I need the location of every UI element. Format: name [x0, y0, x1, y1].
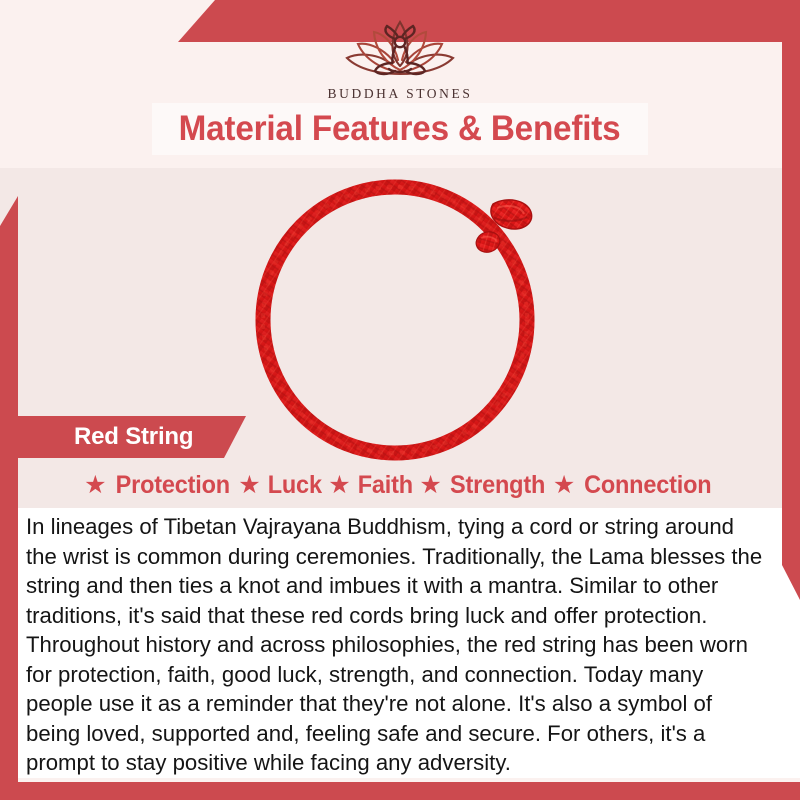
star-icon: ★	[238, 473, 260, 498]
lotus-meditation-icon	[325, 14, 475, 84]
brand-wordmark: BUDDHA STONES	[0, 86, 800, 102]
feature-item-strength: ★ Strength	[419, 471, 548, 500]
frame-accent-left	[0, 196, 18, 800]
feature-list: ★ Protection ★ Luck ★ Faith ★ Strength ★…	[18, 464, 782, 506]
feature-label: Protection	[115, 471, 229, 500]
feature-item-faith: ★ Faith	[328, 471, 414, 500]
page-title-box: Material Features & Benefits	[152, 103, 648, 155]
description-paragraph: In lineages of Tibetan Vajrayana Buddhis…	[26, 512, 763, 778]
feature-label: Luck	[267, 471, 321, 500]
feature-label: Connection	[584, 471, 711, 500]
product-feature-poster: BUDDHA STONES Material Features & Benefi…	[0, 0, 800, 800]
red-string-bracelet-illustration	[235, 168, 565, 468]
star-icon: ★	[553, 473, 575, 498]
feature-label: Faith	[357, 471, 412, 500]
feature-item-protection: ★ Protection	[84, 471, 233, 500]
star-icon: ★	[328, 473, 350, 498]
frame-accent-bottom	[0, 782, 800, 800]
page-title: Material Features & Benefits	[179, 109, 621, 149]
feature-label: Strength	[450, 471, 545, 500]
material-name-ribbon: Red String	[18, 416, 246, 458]
material-name-label: Red String	[18, 423, 193, 451]
brand-logo: BUDDHA STONES	[0, 14, 800, 102]
feature-item-luck: ★ Luck	[238, 471, 323, 500]
star-icon: ★	[84, 473, 106, 498]
star-icon: ★	[419, 473, 441, 498]
feature-item-connection: ★ Connection	[553, 471, 716, 500]
